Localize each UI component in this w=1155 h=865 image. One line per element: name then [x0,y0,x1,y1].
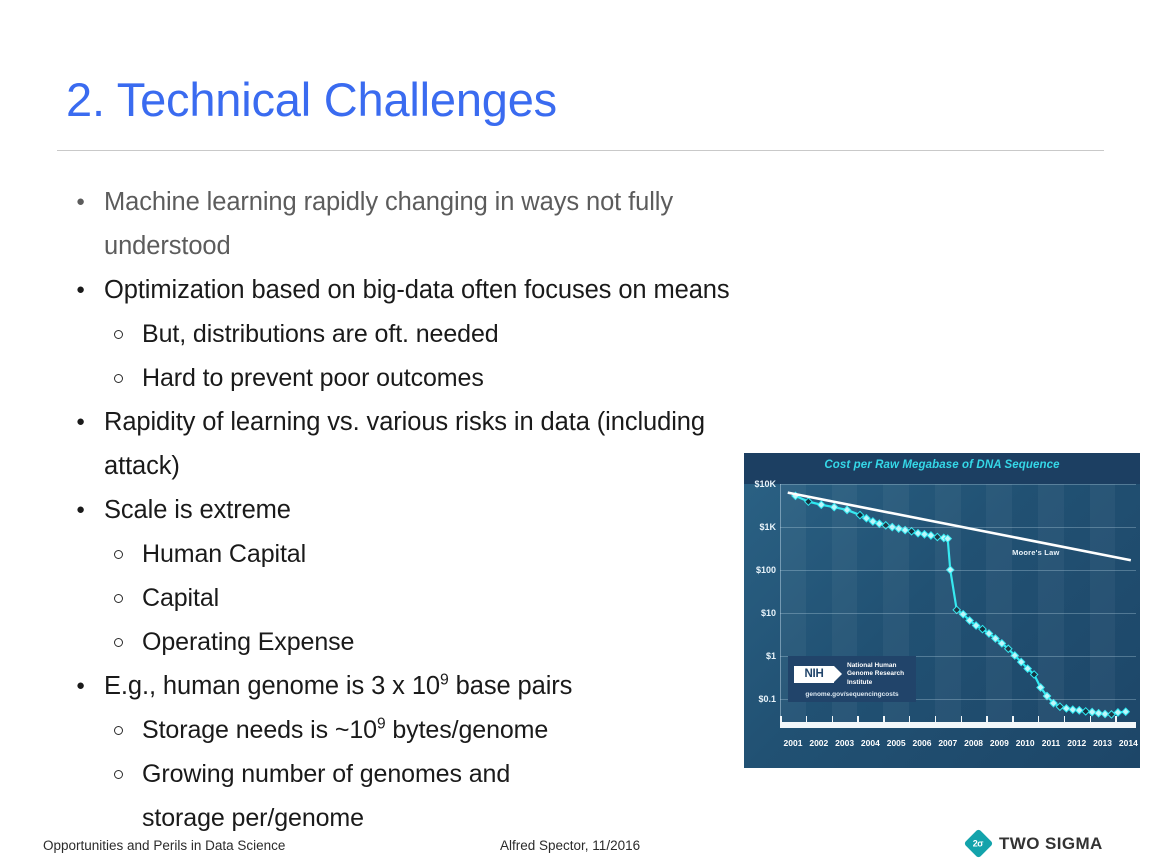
chart-x-axis-strip [780,722,1136,728]
chart-title: Cost per Raw Megabase of DNA Sequence [744,459,1140,471]
chart-x-tick [857,716,859,728]
bullet-text-continuation: storage per/genome [66,796,746,840]
chart-x-tick-label: 2003 [835,738,854,748]
bullet-disc-icon: ● [66,488,104,532]
bullet-text: Capital [142,576,746,620]
nih-url: genome.gov/sequencingcosts [794,691,910,698]
bullet-item: ●Machine learning rapidly changing in wa… [66,180,746,268]
chart-x-tick-label: 2007 [938,738,957,748]
chart-x-tick-label: 2008 [964,738,983,748]
bullet-text: Rapidity of learning vs. various risks i… [104,400,746,488]
bullet-item: Operating Expense [66,620,746,664]
chart-x-tick [780,716,782,728]
bullet-item: Hard to prevent poor outcomes [66,356,746,400]
bullet-text: Human Capital [142,532,746,576]
chart-y-tick-label: $10 [761,608,776,618]
chart-x-tick-label: 2006 [913,738,932,748]
chart-x-tick [935,716,937,728]
bullet-disc-icon: ● [66,268,104,312]
bullet-list: ●Machine learning rapidly changing in wa… [66,180,746,840]
chart-y-tick-label: $1 [766,651,776,661]
bullet-text: Operating Expense [142,620,746,664]
chart-x-tick-label: 2005 [887,738,906,748]
chart-x-tick [832,716,834,728]
bullet-item: ●E.g., human genome is 3 x 109 base pair… [66,664,746,708]
footer-left-text: Opportunities and Perils in Data Science [43,838,285,853]
bullet-text: Scale is extreme [104,488,746,532]
bullet-item: Growing number of genomes and [66,752,746,796]
bullet-circle-icon [66,752,142,796]
title-divider [57,150,1104,151]
chart-y-tick-label: $100 [756,565,776,575]
bullet-text: Storage needs is ~109 bytes/genome [142,708,746,752]
nih-logo-badge: NIH [794,666,834,683]
chart-vertical-band [986,484,1012,722]
bullet-circle-icon [66,356,142,400]
bullet-text: Optimization based on big-data often foc… [104,268,746,312]
bullet-circle-icon [66,708,142,752]
chart-x-tick [1090,716,1092,728]
chart-y-tick-label: $0.1 [758,694,776,704]
bullet-circle-icon [66,532,142,576]
chart-x-tick [883,716,885,728]
two-sigma-mark: 2σ [973,838,983,848]
bullet-item: Storage needs is ~109 bytes/genome [66,708,746,752]
chart-x-tick-label: 2009 [990,738,1009,748]
bullet-item: ●Rapidity of learning vs. various risks … [66,400,746,488]
chart-gridline [780,613,1136,614]
chart-x-tick [1064,716,1066,728]
bullet-item: Human Capital [66,532,746,576]
chart-gridline [780,484,1136,485]
chart-x-tick-label: 2012 [1067,738,1086,748]
bullet-disc-icon: ● [66,664,104,708]
chart-x-tick [986,716,988,728]
chart-gridline [780,527,1136,528]
chart-x-tick-label: 2002 [809,738,828,748]
chart-y-tick-label: $1K [759,522,776,532]
moores-law-annotation: Moore's Law [1012,548,1059,557]
two-sigma-logo: 2σ TWO SIGMA [968,833,1103,854]
chart-x-tick [1038,716,1040,728]
bullet-text: E.g., human genome is 3 x 109 base pairs [104,664,746,708]
bullet-item: ●Optimization based on big-data often fo… [66,268,746,312]
chart-vertical-band [1038,484,1064,722]
bullet-disc-icon: ● [66,400,104,444]
two-sigma-diamond-icon: 2σ [964,829,994,859]
bullet-circle-icon [66,312,142,356]
chart-vertical-band [935,484,961,722]
dna-sequencing-cost-chart: Cost per Raw Megabase of DNA Sequence $1… [744,453,1140,768]
chart-x-tick [1012,716,1014,728]
footer-center-text: Alfred Spector, 11/2016 [500,838,640,853]
page-title: 2. Technical Challenges [66,72,557,127]
chart-vertical-band [1090,484,1116,722]
chart-y-tick-label: $10K [754,479,776,489]
chart-x-tick-label: 2001 [784,738,803,748]
bullet-item: ●Scale is extreme [66,488,746,532]
chart-x-tick-label: 2004 [861,738,880,748]
chart-x-tick [961,716,963,728]
bullet-circle-icon [66,576,142,620]
chart-x-tick-label: 2013 [1093,738,1112,748]
bullet-disc-icon: ● [66,180,104,224]
nih-credit-box: NIH National Human Genome Research Insti… [788,656,916,703]
bullet-text: Hard to prevent poor outcomes [142,356,746,400]
chart-x-tick [909,716,911,728]
bullet-circle-icon [66,620,142,664]
chart-x-tick-label: 2011 [1042,738,1060,748]
bullet-text: Growing number of genomes and [142,752,746,796]
bullet-item: But, distributions are oft. needed [66,312,746,356]
chart-gridline [780,570,1136,571]
two-sigma-wordmark: TWO SIGMA [999,834,1103,854]
chart-x-tick [806,716,808,728]
chart-x-tick-label: 2014 [1119,738,1138,748]
chart-x-tick-label: 2010 [1016,738,1035,748]
bullet-item: Capital [66,576,746,620]
nih-institute-name: National Human Genome Research Institute [847,662,910,688]
bullet-text: But, distributions are oft. needed [142,312,746,356]
bullet-text: Machine learning rapidly changing in way… [104,180,746,268]
chart-x-tick [1115,716,1117,728]
